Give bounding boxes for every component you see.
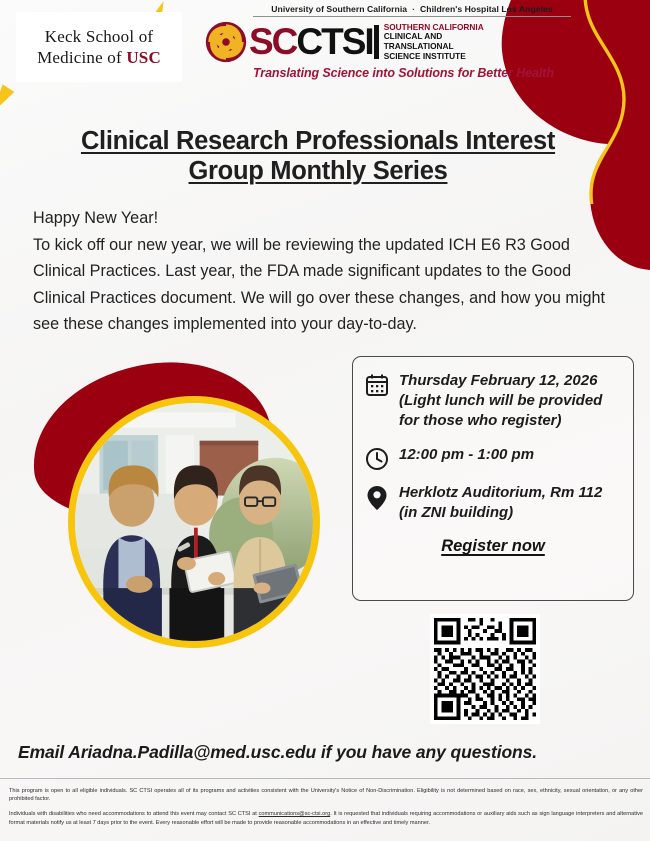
- register-now-link[interactable]: Register now: [353, 537, 633, 556]
- event-time-text: 12:00 pm - 1:00 pm: [399, 445, 534, 465]
- event-location-row: Herklotz Auditorium, Rm 112 (in ZNI buil…: [365, 483, 633, 523]
- event-photo: [68, 396, 320, 648]
- page-title-line-1: Clinical Research Professionals Interest: [81, 127, 555, 155]
- wordmark-divider-bar: [374, 25, 379, 59]
- partner-chla: Children's Hospital Los Angeles: [420, 4, 553, 14]
- event-date-row: Thursday February 12, 2026 (Light lunch …: [365, 371, 633, 431]
- sc-ctsi-wordmark-row: SCCTSI SOUTHERN CALIFORNIA CLINICAL AND …: [205, 21, 560, 63]
- register-now-label[interactable]: Register now: [441, 537, 545, 555]
- footer-divider: [0, 778, 650, 779]
- sc-ctsi-wordmark: SCCTSI: [249, 22, 373, 62]
- decorative-triangle-left: [0, 84, 14, 115]
- page-title: Clinical Research Professionals Interest…: [38, 126, 598, 186]
- event-time-row: 12:00 pm - 1:00 pm: [365, 445, 633, 471]
- sc-ctsi-tagline: Translating Science into Solutions for B…: [253, 66, 560, 80]
- keck-logo-line-1: Keck School of: [45, 26, 154, 47]
- flyer-page: Keck School of Medicine of USC Universit…: [0, 0, 650, 841]
- event-date-line-3: for those who register): [399, 411, 602, 431]
- keck-logo-usc-text: USC: [126, 48, 161, 67]
- wordmark-sc: SC: [249, 21, 296, 62]
- clock-icon: [365, 445, 395, 471]
- event-date-line-1: Thursday February 12, 2026: [399, 371, 602, 391]
- partner-usc: University of Southern California: [271, 4, 407, 14]
- accommodations-notice: Individuals with disabilities who need a…: [9, 810, 643, 826]
- page-title-line-2: Group Monthly Series: [189, 157, 448, 185]
- event-location-line-2: (in ZNI building): [399, 503, 602, 523]
- event-date-line-2: (Light lunch will be provided: [399, 391, 602, 411]
- greeting-text: Happy New Year!: [33, 205, 613, 232]
- institute-line-4: SCIENCE INSTITUTE: [384, 52, 484, 62]
- partner-separator: ·: [407, 4, 420, 14]
- event-details-box: Thursday February 12, 2026 (Light lunch …: [352, 356, 634, 601]
- event-photo-graphic: [75, 403, 313, 641]
- keck-logo-line-2: Medicine of USC: [37, 47, 161, 68]
- partner-institutions-line: University of Southern California·Childr…: [253, 4, 571, 17]
- event-location-text: Herklotz Auditorium, Rm 112 (in ZNI buil…: [399, 483, 602, 523]
- fine-print: This program is open to all eligible ind…: [9, 787, 643, 834]
- accommodations-text-before: Individuals with disabilities who need a…: [9, 811, 259, 817]
- sc-ctsi-pinwheel-icon: [205, 21, 247, 63]
- wordmark-ctsi: CTSI: [296, 21, 372, 62]
- event-date-text: Thursday February 12, 2026 (Light lunch …: [399, 371, 602, 431]
- event-location-line-1: Herklotz Auditorium, Rm 112: [399, 483, 602, 503]
- keck-logo-medicine-text: Medicine of: [37, 48, 126, 67]
- calendar-icon: [365, 371, 395, 397]
- qr-code[interactable]: [430, 614, 540, 724]
- map-pin-icon: [365, 483, 395, 511]
- sc-ctsi-logo-lockup: University of Southern California·Childr…: [205, 4, 560, 80]
- qr-code-graphic[interactable]: [430, 614, 540, 724]
- institute-name-block: SOUTHERN CALIFORNIA CLINICAL AND TRANSLA…: [384, 23, 484, 61]
- non-discrimination-notice: This program is open to all eligible ind…: [9, 787, 643, 803]
- body-copy: Happy New Year! To kick off our new year…: [33, 205, 613, 338]
- description-paragraph: To kick off our new year, we will be rev…: [33, 232, 613, 338]
- accommodations-email-link[interactable]: communications@sc-ctsi.org: [259, 811, 331, 817]
- contact-email-line[interactable]: Email Ariadna.Padilla@med.usc.edu if you…: [18, 742, 537, 763]
- keck-school-logo: Keck School of Medicine of USC: [16, 12, 182, 82]
